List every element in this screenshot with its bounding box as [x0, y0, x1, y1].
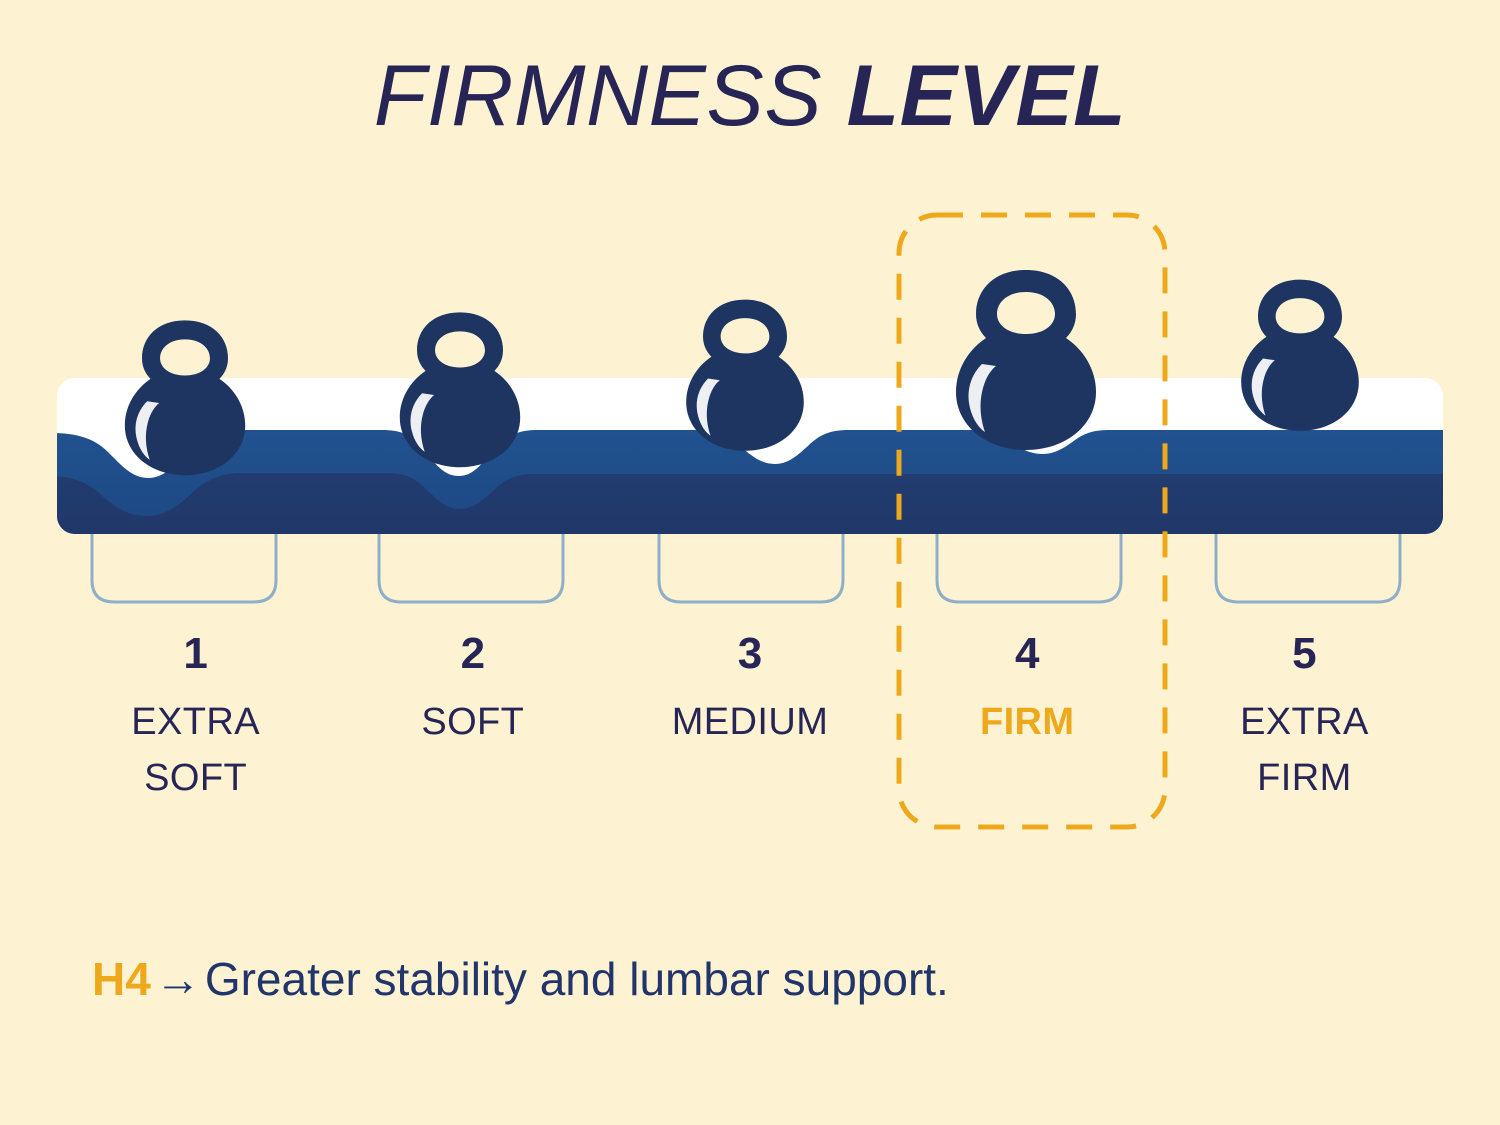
scale-label-4: FIRM	[889, 694, 1166, 750]
scale-label-5-line2: FIRM	[1257, 757, 1351, 799]
kettlebell-level-4	[956, 270, 1096, 450]
scale-number-1: 1	[57, 628, 334, 680]
scale-number-2: 2	[334, 628, 611, 680]
kettlebell-level-1	[125, 320, 245, 475]
scale-item-1[interactable]: 1 EXTRA SOFT	[57, 628, 334, 838]
scale-number-3: 3	[611, 628, 888, 680]
mattress-top-layer	[50, 370, 1450, 540]
scale-label-1-line1: EXTRA	[131, 701, 260, 743]
slat-5	[1216, 534, 1400, 602]
slat-1	[92, 534, 276, 602]
kettlebell-level-2	[400, 312, 520, 467]
scale-label-2: SOFT	[334, 694, 611, 750]
firmness-scale-labels: 1 EXTRA SOFT 2 SOFT 3 MEDIUM 4 FIRM 5 EX…	[57, 628, 1443, 838]
scale-item-5[interactable]: 5 EXTRA FIRM	[1166, 628, 1443, 838]
mattress-body	[50, 370, 1450, 540]
kettlebell-level-5	[1241, 280, 1359, 431]
kettlebell-level-3	[686, 300, 804, 451]
mattress-bottom-layer	[50, 473, 1450, 540]
footnote: H4→Greater stability and lumbar support.	[92, 948, 949, 1010]
support-slats	[92, 534, 1400, 602]
scale-item-3[interactable]: 3 MEDIUM	[611, 628, 888, 838]
scale-item-2[interactable]: 2 SOFT	[334, 628, 611, 838]
scale-label-1: EXTRA SOFT	[57, 694, 334, 806]
slat-3	[659, 534, 843, 602]
slat-2	[379, 534, 563, 602]
scale-number-5: 5	[1166, 628, 1443, 680]
mattress-middle-layer	[50, 430, 1450, 540]
arrow-right-icon: →	[151, 953, 205, 1005]
scale-label-5: EXTRA FIRM	[1166, 694, 1443, 806]
footnote-code: H4	[92, 953, 151, 1005]
title-part-firmness: FIRMNESS	[374, 48, 822, 144]
page-title: FIRMNESS LEVEL	[0, 48, 1500, 144]
slat-4	[937, 534, 1121, 602]
scale-label-3: MEDIUM	[611, 694, 888, 750]
footnote-text: Greater stability and lumbar support.	[205, 953, 949, 1005]
scale-label-5-line1: EXTRA	[1240, 701, 1369, 743]
scale-number-4: 4	[889, 628, 1166, 680]
title-part-level: LEVEL	[847, 48, 1127, 144]
scale-label-1-line2: SOFT	[144, 757, 247, 799]
infographic-canvas: FIRMNESS LEVEL	[0, 0, 1500, 1125]
scale-item-4[interactable]: 4 FIRM	[889, 628, 1166, 838]
